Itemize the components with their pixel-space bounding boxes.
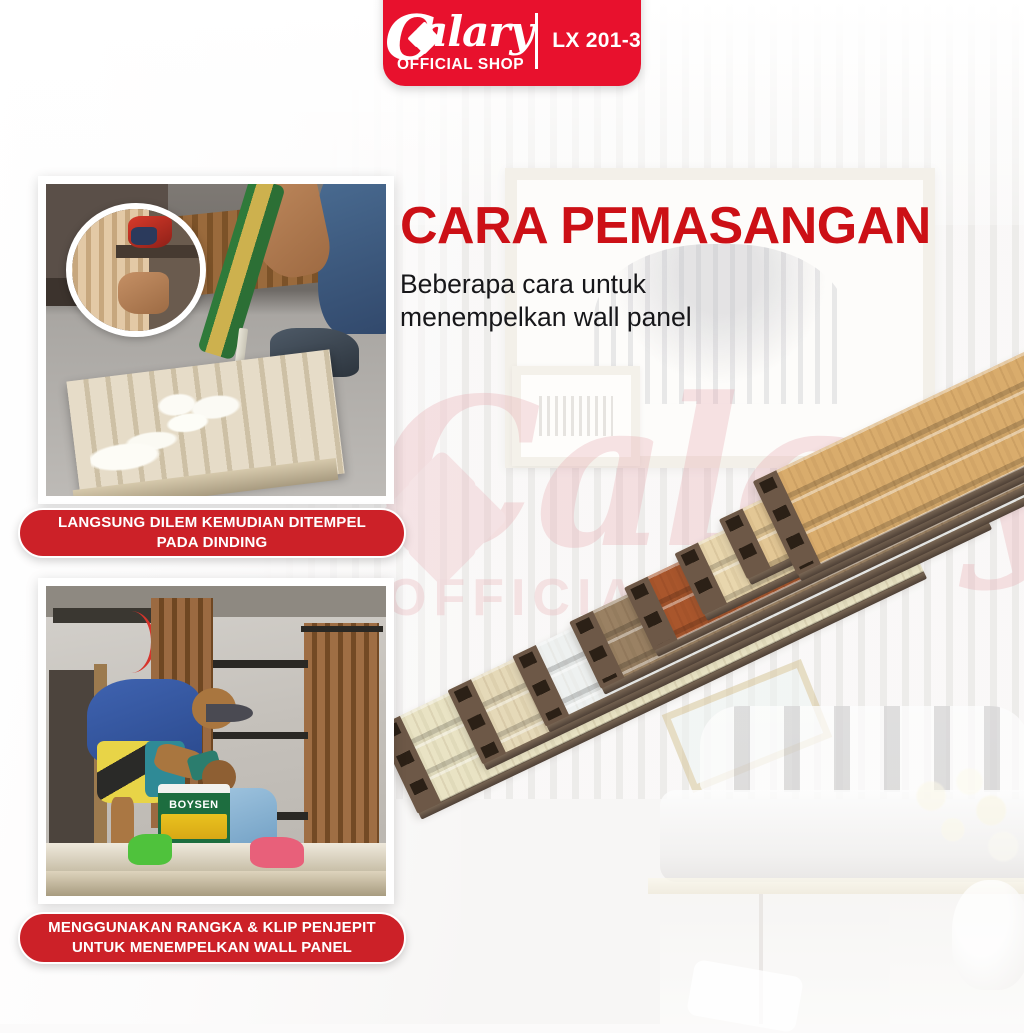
four-diamond-flower-icon (410, 24, 438, 52)
batten-frame-rail (213, 660, 308, 667)
red-bag (250, 837, 304, 868)
batten-frame-rail (301, 626, 383, 632)
batten-frame-rail (213, 732, 308, 739)
official-shop-label: OFFICIAL SHOP (397, 56, 524, 74)
inset-red-glove (128, 216, 171, 248)
bucket-brand-text: BOYSEN (158, 799, 229, 811)
product-code: LX 201-3 (552, 29, 641, 53)
step-2-image: BOYSEN (46, 586, 386, 896)
calary-logo: C alary OFFICIAL SHOP (383, 2, 533, 80)
green-bag (128, 834, 172, 865)
step-1-inset-circle (66, 203, 205, 337)
brand-badge[interactable]: C alary OFFICIAL SHOP LX 201-3 (383, 0, 641, 86)
step-2-photo: BOYSEN (38, 578, 394, 904)
ceramic-vase (952, 880, 1024, 990)
step-1-caption: LANGSUNG DILEM KEMUDIAN DITEMPEL PADA DI… (18, 508, 406, 558)
worker-jeans (318, 184, 386, 334)
page-title: CARA PEMASANGAN (400, 200, 931, 252)
bucket-label (161, 814, 227, 839)
badge-divider (535, 13, 538, 69)
headline-block: CARA PEMASANGAN Beberapa cara untuk mene… (400, 200, 931, 335)
inset-hand (118, 272, 169, 314)
work-bench-front (46, 871, 386, 896)
product-panel-stack (390, 330, 1024, 870)
page-subtitle: Beberapa cara untuk menempelkan wall pan… (400, 268, 931, 335)
work-bench-top (46, 843, 386, 871)
inset-image (72, 209, 199, 331)
step-1-photo (38, 176, 394, 504)
step-2-caption: MENGGUNAKAN RANGKA & KLIP PENJEPIT UNTUK… (18, 912, 406, 964)
step-1-image (46, 184, 386, 496)
red-cable (107, 611, 155, 673)
